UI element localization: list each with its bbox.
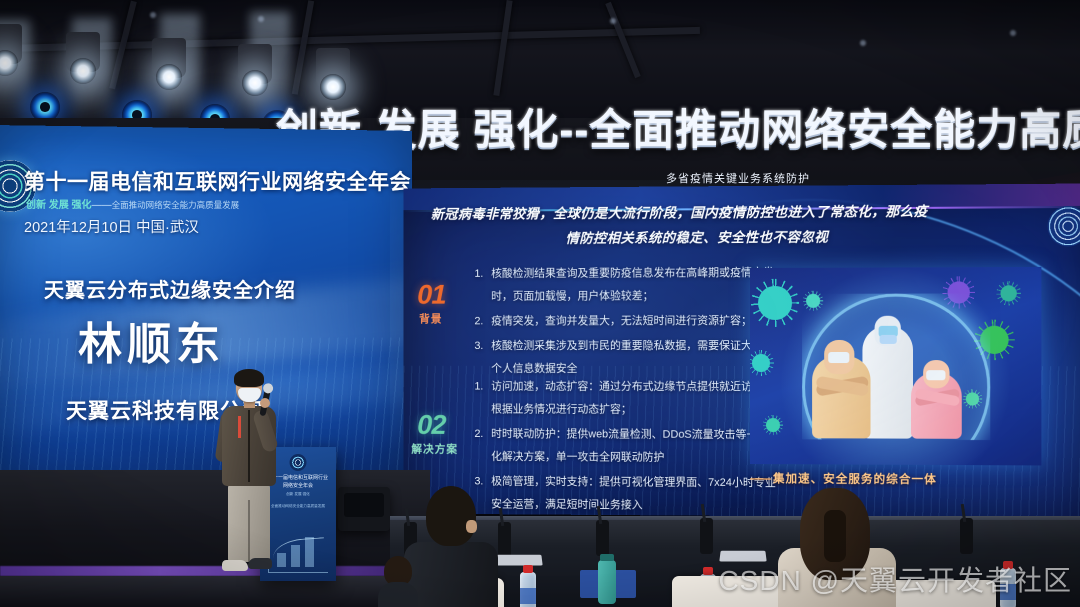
attendee-head (426, 486, 476, 546)
attendee-body (378, 582, 418, 607)
face-mask-icon (926, 370, 945, 380)
bullet-text: 访问加速，动态扩容：通过分布式边缘节点提供就近访问，根据业务情况进行动态扩容； (491, 381, 774, 416)
stage-monitor-speaker-icon (338, 487, 390, 531)
jacket-zipper (248, 410, 250, 482)
spotlight-fixture-icon (0, 24, 22, 64)
virus-particle-icon (752, 354, 770, 372)
lanyard-badge (238, 416, 241, 438)
spotlight-fixture-icon (238, 44, 272, 84)
section-01-bullets: 1.核酸检测结果查询及重要防疫信息发布在高峰期或疫情突发时，页面加载慢，用户体验… (462, 262, 778, 383)
speaker-at-podium (218, 372, 280, 577)
attendee-partial-left (384, 556, 414, 607)
section-label-background: 背景 (419, 311, 442, 327)
conference-date-location: 2021年12月10日 中国·武汉 (24, 216, 199, 237)
speaker-name: 林顺东 (78, 308, 225, 372)
bullet-number: 2. (462, 423, 483, 446)
conference-seal-icon (290, 454, 307, 471)
attendee-left (404, 486, 498, 607)
virus-particle-icon (806, 294, 820, 308)
section-number-02: 02 (417, 409, 445, 441)
conference-stage-photo: 创新 发展 强化--全面推动网络安全能力高质量发 第十一届电信和互联网行业网络安… (0, 0, 1080, 607)
attendee-ear (466, 520, 477, 533)
speaker-shoe (222, 560, 248, 571)
caption-dash: —— (750, 473, 769, 485)
spotlight-fixture-icon (66, 32, 100, 72)
water-bottle (520, 572, 536, 607)
microphone-stand-icon (960, 518, 973, 554)
bullet-number: 1. (462, 376, 483, 399)
spotlight-fixture-icon (152, 38, 186, 78)
ceiling-spot (258, 16, 264, 22)
face-mask-icon (238, 388, 261, 402)
speaker-legs (228, 482, 270, 562)
ceiling-spot (860, 40, 866, 46)
ceiling-spot (150, 12, 156, 18)
stage-front-face (0, 576, 400, 607)
attendee-body (404, 542, 498, 607)
ceiling-spot (1010, 30, 1016, 36)
chart-bar (291, 545, 300, 567)
truss-beam (292, 0, 314, 95)
teal-tumbler (598, 560, 616, 604)
projected-slide: 新冠病毒非常狡猾，全球仍是大流行阶段，国内疫情防控也进入了常态化，那么疫 情防控… (404, 183, 1080, 518)
bullet-text: 极简管理，实时支持：提供可视化管理界面、7x24小时专业安全运营，满足短时间业务… (491, 476, 776, 512)
truss-beam (493, 0, 512, 96)
bullet-number: 3. (462, 335, 483, 358)
conference-slogan: 创新 发展 强化——全面推动网络安全能力高质量发展 (26, 196, 239, 211)
speaker-hand (260, 398, 270, 408)
slide-lead-paragraph: 新冠病毒非常狡猾，全球仍是大流行阶段，国内疫情防控也进入了常态化，那么疫 情防控… (431, 198, 1080, 252)
virus-particle-icon (1000, 285, 1016, 301)
section-number-01: 01 (417, 279, 445, 311)
slogan-tail: 全面推动网络安全能力高质量发展 (112, 200, 240, 210)
slogan-keywords: 创新 发展 强化 (26, 200, 92, 211)
list-item: 2.疫情突发，查询并发量大，无法短时间进行资源扩容； (462, 310, 778, 333)
bottle-cap (523, 565, 533, 573)
tumbler-cap (600, 554, 614, 561)
bullet-text: 核酸检测采集涉及到市民的重要隐私数据，需要保证大量的个人信息数据安全 (491, 340, 774, 375)
covid-medical-staff-family-illustration (750, 267, 1041, 466)
laptop (495, 555, 542, 566)
talk-title: 天翼云分布式边缘安全介绍 (44, 274, 296, 303)
bullet-text: 疫情突发，查询并发量大，无法短时间进行资源扩容； (491, 315, 752, 327)
virus-particle-icon (980, 326, 1009, 354)
bullet-text: 时时联动防护：提供web流量检测、DDoS流量攻击等一体化解决方案，单一攻击全网… (491, 428, 768, 463)
bullet-number: 1. (462, 263, 483, 286)
truss-beam (605, 2, 641, 78)
doctor-mask (880, 335, 897, 344)
face-mask-icon (828, 352, 849, 363)
speaker-shoe (248, 558, 272, 569)
list-item: 3.极简管理，实时支持：提供可视化管理界面、7x24小时专业安全运营，满足短时间… (462, 471, 778, 519)
conference-title: 第十一届电信和互联网行业网络安全年会 (24, 166, 411, 196)
lead-line-1: 新冠病毒非常狡猾，全球仍是大流行阶段，国内疫情防控也进入了常态化，那么疫 (431, 204, 928, 222)
csdn-watermark: CSDN @天翼云开发者社区 (718, 559, 1072, 599)
virus-particle-icon (766, 418, 780, 432)
bottle-label (520, 588, 536, 604)
section-label-solution: 解决方案 (411, 441, 458, 457)
list-item: 3.核酸检测采集涉及到市民的重要隐私数据，需要保证大量的个人信息数据安全 (462, 335, 778, 381)
speaker-hair (234, 369, 264, 387)
chart-bar (305, 537, 314, 567)
bullet-text: 核酸检测结果查询及重要防疫信息发布在高峰期或疫情突发时，页面加载慢，用户体验较差… (491, 267, 774, 303)
attendee-braid (824, 510, 846, 562)
caption-text: 集加速、安全服务的综合一体 (773, 473, 937, 486)
list-item: 1.访问加速，动态扩容：通过分布式边缘节点提供就近访问，根据业务情况进行动态扩容… (462, 376, 778, 422)
microphone-stand-icon (498, 522, 511, 558)
lead-line-2: 情防控相关系统的稳定、安全性也不容忽视 (431, 223, 1080, 251)
spotlight-fixture-icon (316, 48, 350, 88)
ceiling-spot (610, 18, 616, 24)
slogan-dash: —— (92, 200, 112, 211)
virus-particle-icon (758, 286, 792, 320)
bullet-number: 2. (462, 310, 483, 333)
list-item: 1.核酸检测结果查询及重要防疫信息发布在高峰期或疫情突发时，页面加载慢，用户体验… (462, 262, 778, 309)
microphone-stand-icon (700, 518, 713, 554)
slide-banner-text: 多省疫情关键业务系统防护 (392, 170, 1080, 186)
virus-particle-icon (948, 281, 970, 303)
stage-edge-lighting (0, 566, 400, 576)
microphone-stand-icon (596, 520, 609, 556)
bottle-cap (703, 567, 713, 575)
list-item: 2.时时联动防护：提供web流量检测、DDoS流量攻击等一体化解决方案，单一攻击… (462, 423, 778, 470)
section-02-bullets: 1.访问加速，动态扩容：通过分布式边缘节点提供就近访问，根据业务情况进行动态扩容… (462, 376, 778, 519)
